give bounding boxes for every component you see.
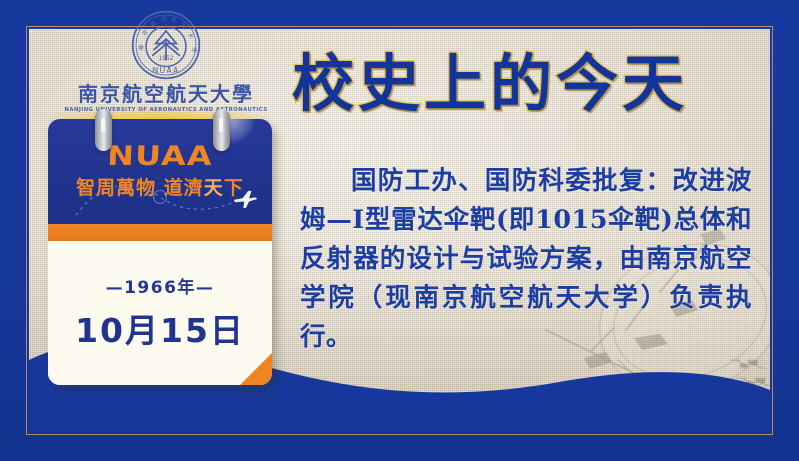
svg-text:1952: 1952: [158, 56, 173, 62]
university-name-cn: 南京航空航天大學: [60, 84, 272, 105]
svg-text:南: 南: [136, 43, 146, 52]
university-name-en: NANJING UNIVERSITY OF AERONAUTICS AND AS…: [58, 107, 274, 113]
body-paragraph: 国防工办、国防科委批复：改进波姆—I型雷达伞靶(即1015伞靶)总体和反射器的设…: [300, 162, 752, 357]
airplane-icon: [232, 189, 258, 209]
svg-text:NUAA: NUAA: [152, 66, 179, 75]
page-fold-icon: [240, 353, 272, 385]
calendar-header: NUAA 智周萬物 道濟天下: [48, 119, 272, 224]
calendar-card: NUAA 智周萬物 道濟天下 —1966年— 10月15日: [48, 119, 272, 385]
calendar-body: —1966年— 10月15日: [48, 241, 272, 385]
poster-canvas: 1952 NUAA 南 京 航 空 航 天 大 学 南京航空航天大學 NANJI…: [0, 0, 799, 461]
binder-ring-icon: [213, 109, 230, 151]
university-branding: 1952 NUAA 南 京 航 空 航 天 大 学 南京航空航天大學 NANJI…: [60, 8, 272, 113]
svg-text:大: 大: [186, 31, 196, 41]
nuaa-crest-icon: 1952 NUAA 南 京 航 空 航 天 大 学: [129, 8, 203, 82]
calendar-year: —1966年—: [48, 241, 272, 298]
page-title: 校史上的今天: [292, 33, 688, 123]
motto-part1: 智周萬物 道濟: [76, 177, 204, 199]
calendar-orange-band: [48, 224, 272, 241]
calendar-brand: NUAA: [48, 141, 272, 172]
calendar-date: 10月15日: [48, 304, 272, 352]
binder-ring-icon: [95, 109, 112, 151]
motto-highlight: 天: [204, 177, 224, 199]
